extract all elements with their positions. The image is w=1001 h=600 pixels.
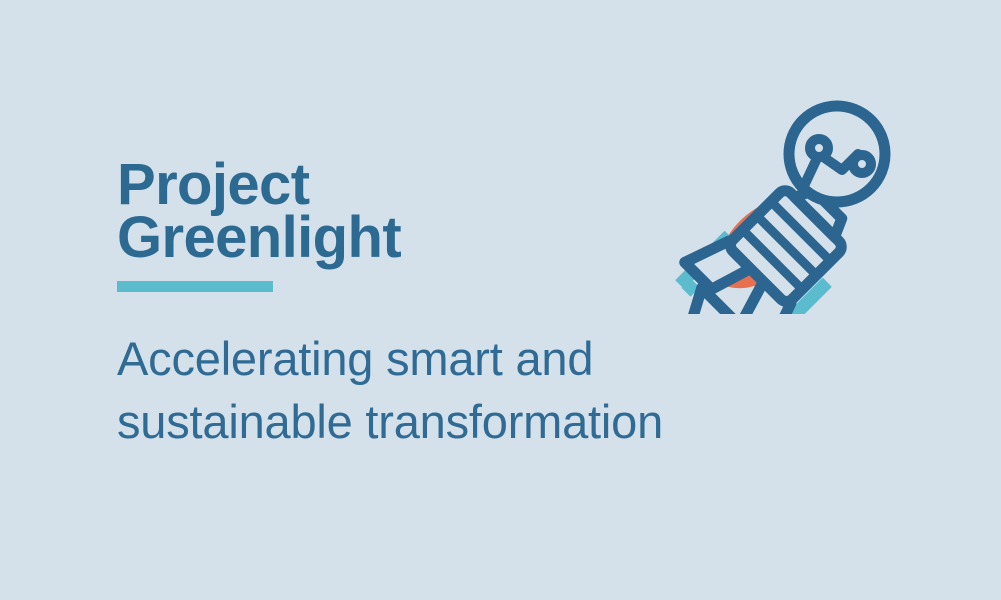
- rocket-lightbulb-illustration: [672, 92, 904, 314]
- title-slide: Project Greenlight Accelerating smart an…: [0, 0, 1001, 600]
- accent-bar: [117, 281, 273, 292]
- subtitle: Accelerating smart and sustainable trans…: [117, 327, 817, 453]
